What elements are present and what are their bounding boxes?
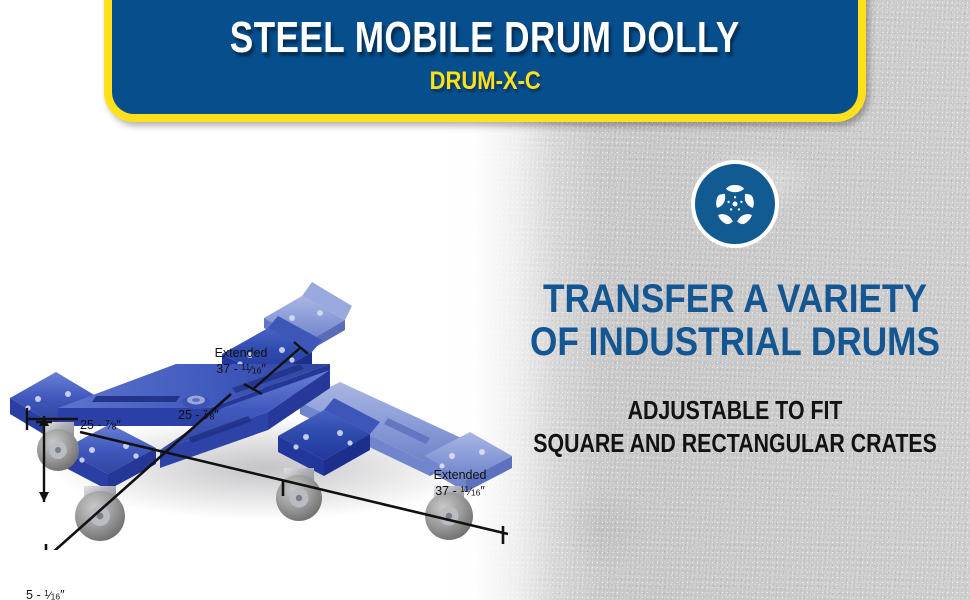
dimension-unit: ″ bbox=[214, 408, 218, 422]
caster-wheel-icon bbox=[691, 160, 779, 248]
dimension-fraction: 7⁄8 bbox=[203, 408, 214, 424]
feature-headline: TRANSFER A VARIETY OF INDUSTRIAL DRUMS bbox=[530, 278, 940, 364]
dimension-fraction: 7⁄8 bbox=[105, 418, 116, 434]
dimension-dash: - bbox=[97, 418, 101, 432]
dimension-unit: ″ bbox=[261, 362, 265, 376]
feature-subtext: ADJUSTABLE TO FIT SQUARE AND RECTANGULAR… bbox=[533, 394, 937, 459]
dimension-dash: - bbox=[195, 408, 199, 422]
dimension-dash: - bbox=[36, 588, 40, 600]
dimension-dash: - bbox=[234, 362, 238, 376]
dimension-prefix: Extended bbox=[215, 346, 268, 360]
dimension-label-extended-top: Extended 37 - 11⁄16″ bbox=[185, 346, 297, 378]
product-sku: DRUM-X-C bbox=[429, 67, 540, 96]
dimension-prefix: Extended bbox=[434, 468, 487, 482]
dimension-whole: 25 bbox=[80, 418, 94, 432]
dimension-fraction: 11⁄16 bbox=[460, 484, 480, 500]
dimension-label-width-diagonal: 25 - 7⁄8″ bbox=[178, 408, 219, 424]
dimension-whole: 5 bbox=[26, 588, 33, 600]
dimension-unit: ″ bbox=[116, 418, 120, 432]
product-figure: Extended 37 - 11⁄16″ 25 - 7⁄8″ 25 - 7⁄8″… bbox=[0, 150, 530, 550]
product-banner: STEEL MOBILE DRUM DOLLY DRUM-X-C bbox=[0, 0, 970, 600]
dimension-whole: 37 bbox=[216, 362, 230, 376]
dolly-center-hub bbox=[182, 395, 210, 409]
dimension-label-width-left: 25 - 7⁄8″ bbox=[80, 418, 121, 434]
header-banner: STEEL MOBILE DRUM DOLLY DRUM-X-C bbox=[104, 0, 866, 122]
headline-line-1: TRANSFER A VARIETY bbox=[530, 278, 940, 321]
dimension-label-height: 5 - 1⁄16″ bbox=[26, 588, 65, 600]
headline-line-2: OF INDUSTRIAL DRUMS bbox=[530, 321, 940, 364]
dimension-whole: 37 bbox=[435, 484, 449, 498]
dimension-whole: 25 bbox=[178, 408, 192, 422]
page-title: STEEL MOBILE DRUM DOLLY bbox=[230, 16, 740, 61]
dimension-dash: - bbox=[453, 484, 457, 498]
dimension-unit: ″ bbox=[480, 484, 484, 498]
dimension-unit: ″ bbox=[60, 588, 64, 600]
dimension-fraction: 1⁄16 bbox=[44, 588, 60, 600]
subtext-line-2: SQUARE AND RECTANGULAR CRATES bbox=[533, 427, 937, 460]
dimension-label-extended-right: Extended 37 - 11⁄16″ bbox=[405, 468, 515, 500]
dimension-fraction: 11⁄16 bbox=[241, 362, 261, 378]
feature-panel: TRANSFER A VARIETY OF INDUSTRIAL DRUMS A… bbox=[500, 160, 970, 530]
subtext-line-1: ADJUSTABLE TO FIT bbox=[533, 394, 937, 427]
